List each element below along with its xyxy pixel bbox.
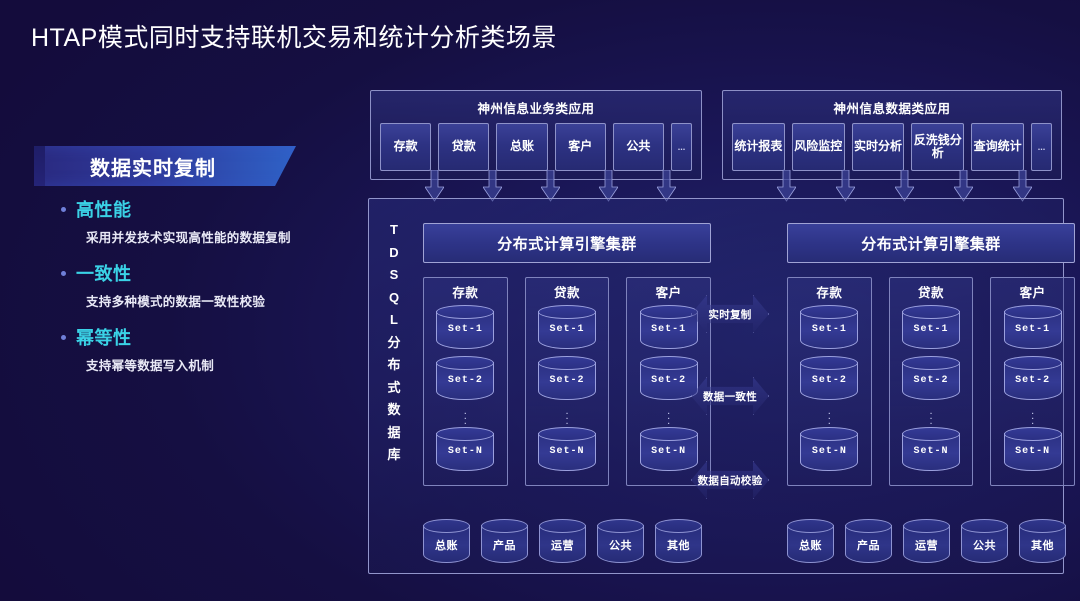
set-label: Set-1 [436,324,494,335]
list-item: 一致性 支持多种模式的数据一致性校验 [58,260,358,310]
app-chip[interactable]: 贷款 [438,123,489,171]
vlabel-char: Q [383,287,405,310]
bottom-cylinder: 总账 [787,519,834,563]
list-item: 幂等性 支持幂等数据写入机制 [58,324,358,374]
bullet-desc: 支持幂等数据写入机制 [86,355,358,374]
db-set-cylinder: Set-1 [1004,305,1062,349]
link-arrow-realtime-replication: 实时复制 [691,295,769,333]
cylinder-top [538,356,596,370]
cylinder-top [436,356,494,370]
cylinder-top [436,427,494,441]
cluster-right: 分布式计算引擎集群 存款 Set-1 Set-2 ... [787,223,1075,553]
link-arrow-label: 数据一致性 [691,377,769,415]
db-set-cylinder: Set-2 [640,356,698,400]
db-set-cylinder: Set-1 [436,305,494,349]
app-chip-more[interactable]: ... [671,123,692,171]
bullet-title: 高性能 [76,196,132,222]
bottom-cylinder: 总账 [423,519,470,563]
vertical-ellipsis-icon: ... [531,407,604,427]
bottom-cylinder-row-left: 总账 产品 运营 公共 其他 [423,519,702,563]
page-title: HTAP模式同时支持联机交易和统计分析类场景 [31,18,557,54]
bottom-cylinder-label: 运营 [539,537,586,553]
db-set-cylinder: Set-1 [902,305,960,349]
bottom-cylinder-label: 产品 [481,537,528,553]
cylinder-top [800,356,858,370]
bottom-cylinder: 公共 [961,519,1008,563]
domain-row: 存款 Set-1 Set-2 ... Se [787,277,1075,486]
bottom-cylinder: 产品 [481,519,528,563]
bullet-head: 一致性 [58,260,358,286]
set-label: Set-N [800,446,858,457]
bullet-head: 高性能 [58,196,358,222]
set-label: Set-1 [902,324,960,335]
set-label: Set-N [902,446,960,457]
app-group-title: 神州信息业务类应用 [371,91,701,117]
db-set-cylinder: Set-1 [640,305,698,349]
tdsql-vertical-label: T D S Q L 分 布 式 数 据 库 [383,219,405,467]
set-label: Set-N [640,446,698,457]
db-set-cylinder: Set-2 [1004,356,1062,400]
cylinder-top [539,519,586,533]
bullet-desc: 采用并发技术实现高性能的数据复制 [86,227,358,246]
db-set-cylinder: Set-2 [800,356,858,400]
app-chip-more[interactable]: ... [1031,123,1052,171]
domain-name: 贷款 [895,282,968,301]
compute-engine-cluster: 分布式计算引擎集群 [423,223,711,263]
domain-column: 贷款 Set-1 Set-2 ... Se [525,277,610,486]
cylinder-top [655,519,702,533]
bottom-cylinder-label: 运营 [903,537,950,553]
bottom-cylinder-label: 公共 [961,537,1008,553]
tdsql-panel: T D S Q L 分 布 式 数 据 库 分布式计算引擎集群 存款 Set-1 [368,198,1064,574]
cylinder-top [1004,427,1062,441]
cluster-left: 分布式计算引擎集群 存款 Set-1 Set-2 ... [423,223,711,553]
list-item: 高性能 采用并发技术实现高性能的数据复制 [58,196,358,246]
app-chip-row: 存款 贷款 总账 客户 公共 ... [371,117,701,180]
bullet-dot-icon [61,271,66,276]
banner-label: 数据实时复制 [34,146,272,186]
cylinder-top [902,427,960,441]
feature-list: 高性能 采用并发技术实现高性能的数据复制 一致性 支持多种模式的数据一致性校验 … [58,196,358,388]
bottom-cylinder-label: 公共 [597,537,644,553]
cylinder-top [961,519,1008,533]
link-arrow-auto-verification: 数据自动校验 [691,461,769,499]
vlabel-char: 库 [383,444,405,467]
cylinder-top [845,519,892,533]
set-label: Set-1 [640,324,698,335]
app-chip[interactable]: 公共 [613,123,664,171]
cylinder-top [902,356,960,370]
db-set-cylinder: Set-N [1004,427,1062,471]
vlabel-char: 分 [383,332,405,355]
set-label: Set-N [1004,446,1062,457]
bottom-cylinder-row-right: 总账 产品 运营 公共 其他 [787,519,1066,563]
vlabel-char: 据 [383,422,405,445]
bottom-cylinder: 其他 [1019,519,1066,563]
set-label: Set-1 [538,324,596,335]
set-label: Set-2 [902,375,960,386]
db-set-cylinder: Set-2 [436,356,494,400]
set-label: Set-N [538,446,596,457]
bottom-cylinder-label: 其他 [1019,537,1066,553]
app-chip[interactable]: 实时分析 [852,123,905,171]
db-set-cylinder: Set-1 [800,305,858,349]
link-arrow-label: 数据自动校验 [691,461,769,499]
app-chip-row: 统计报表 风险监控 实时分析 反洗钱分析 查询统计 ... [723,117,1061,180]
domain-column: 客户 Set-1 Set-2 ... Se [990,277,1075,486]
set-label: Set-N [436,446,494,457]
app-chip[interactable]: 反洗钱分析 [911,123,964,171]
app-group-data: 神州信息数据类应用 统计报表 风险监控 实时分析 反洗钱分析 查询统计 ... [722,90,1062,180]
db-set-cylinder: Set-1 [538,305,596,349]
bullet-dot-icon [61,207,66,212]
bottom-cylinder: 其他 [655,519,702,563]
app-chip[interactable]: 总账 [496,123,547,171]
db-set-cylinder: Set-N [538,427,596,471]
bullet-dot-icon [61,335,66,340]
domain-column: 存款 Set-1 Set-2 ... Se [423,277,508,486]
vlabel-char: 式 [383,377,405,400]
section-banner: 数据实时复制 [34,146,296,186]
cylinder-top [1019,519,1066,533]
vertical-ellipsis-icon: ... [429,407,502,427]
domain-name: 存款 [429,282,502,301]
link-arrow-data-consistency: 数据一致性 [691,377,769,415]
set-label: Set-2 [640,375,698,386]
bullet-desc: 支持多种模式的数据一致性校验 [86,291,358,310]
vlabel-char: L [383,309,405,332]
db-set-cylinder: Set-2 [902,356,960,400]
domain-name: 存款 [793,282,866,301]
cylinder-top [1004,356,1062,370]
set-label: Set-1 [800,324,858,335]
vertical-ellipsis-icon: ... [895,407,968,427]
bottom-cylinder: 运营 [903,519,950,563]
cylinder-top [1004,305,1062,319]
vlabel-char: 布 [383,354,405,377]
bullet-title: 一致性 [76,260,132,286]
db-set-cylinder: Set-N [436,427,494,471]
cylinder-top [787,519,834,533]
domain-column: 存款 Set-1 Set-2 ... Se [787,277,872,486]
app-chip[interactable]: 查询统计 [971,123,1024,171]
cylinder-top [640,305,698,319]
domain-row: 存款 Set-1 Set-2 ... Se [423,277,711,486]
cylinder-top [538,427,596,441]
bottom-cylinder-label: 其他 [655,537,702,553]
vlabel-char: D [383,242,405,265]
db-set-cylinder: Set-2 [538,356,596,400]
vlabel-char: T [383,219,405,242]
bullet-head: 幂等性 [58,324,358,350]
db-set-cylinder: Set-N [640,427,698,471]
cylinder-top [423,519,470,533]
cylinder-top [436,305,494,319]
vlabel-char: S [383,264,405,287]
vlabel-char: 数 [383,399,405,422]
app-chip[interactable]: 风险监控 [792,123,845,171]
bullet-title: 幂等性 [76,324,132,350]
cylinder-top [800,427,858,441]
set-label: Set-2 [538,375,596,386]
cylinder-top [538,305,596,319]
app-group-title: 神州信息数据类应用 [723,91,1061,117]
domain-column: 贷款 Set-1 Set-2 ... Se [889,277,974,486]
domain-name: 客户 [996,282,1069,301]
set-label: Set-2 [1004,375,1062,386]
set-label: Set-1 [1004,324,1062,335]
slide-canvas: HTAP模式同时支持联机交易和统计分析类场景 数据实时复制 高性能 采用并发技术… [0,0,1080,601]
app-group-business: 神州信息业务类应用 存款 贷款 总账 客户 公共 ... [370,90,702,180]
cylinder-top [800,305,858,319]
cylinder-top [902,305,960,319]
vertical-ellipsis-icon: ... [793,407,866,427]
app-chip[interactable]: 存款 [380,123,431,171]
db-set-cylinder: Set-N [800,427,858,471]
app-chip[interactable]: 统计报表 [732,123,785,171]
set-label: Set-2 [436,375,494,386]
cylinder-top [481,519,528,533]
link-arrow-label: 实时复制 [691,295,769,333]
db-set-cylinder: Set-N [902,427,960,471]
vertical-ellipsis-icon: ... [996,407,1069,427]
cylinder-top [597,519,644,533]
set-label: Set-2 [800,375,858,386]
cylinder-top [640,356,698,370]
bottom-cylinder-label: 总账 [423,537,470,553]
compute-engine-cluster: 分布式计算引擎集群 [787,223,1075,263]
bottom-cylinder-label: 总账 [787,537,834,553]
bottom-cylinder-label: 产品 [845,537,892,553]
domain-name: 贷款 [531,282,604,301]
bottom-cylinder: 公共 [597,519,644,563]
cylinder-top [903,519,950,533]
bottom-cylinder: 运营 [539,519,586,563]
cylinder-top [640,427,698,441]
app-chip[interactable]: 客户 [555,123,606,171]
bottom-cylinder: 产品 [845,519,892,563]
